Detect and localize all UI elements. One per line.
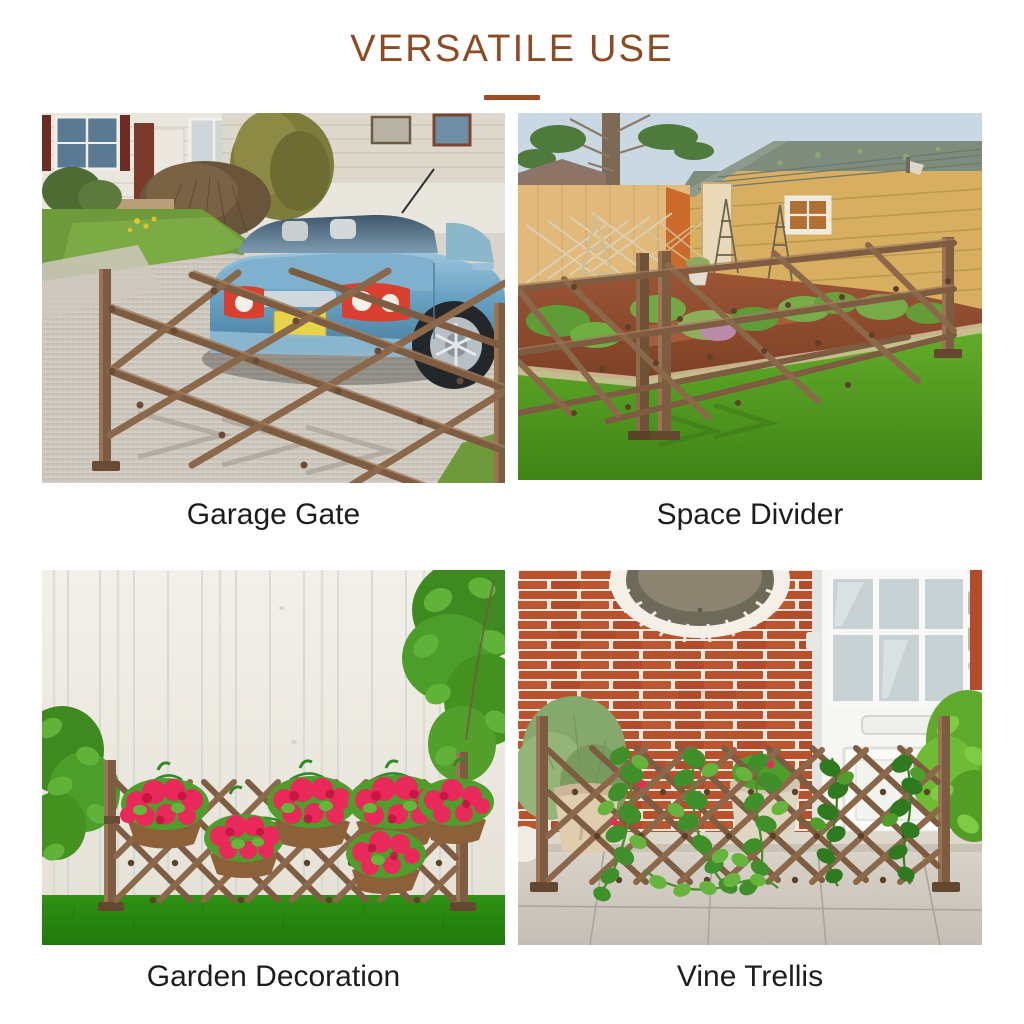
panel-garden-decoration: Garden Decoration: [42, 570, 505, 945]
caption-garden-decoration: Garden Decoration: [42, 960, 505, 994]
photo-garage-gate: [42, 113, 505, 483]
infographic-page: VERSATILE USE: [0, 0, 1024, 1024]
panel-garage-gate: Garage Gate: [42, 113, 505, 483]
page-title: VERSATILE USE: [0, 28, 1024, 71]
panel-grid: Garage Gate: [42, 113, 982, 983]
photo-space-divider: [518, 113, 982, 480]
caption-garage-gate: Garage Gate: [42, 498, 505, 532]
photo-garden-decoration: [42, 570, 505, 945]
caption-vine-trellis: Vine Trellis: [518, 960, 982, 994]
photo-vine-trellis: [518, 570, 982, 945]
panel-space-divider: Space Divider: [518, 113, 982, 480]
title-divider: [484, 95, 540, 100]
panel-vine-trellis: Vine Trellis: [518, 570, 982, 945]
caption-space-divider: Space Divider: [518, 498, 982, 532]
header: VERSATILE USE: [0, 0, 1024, 113]
